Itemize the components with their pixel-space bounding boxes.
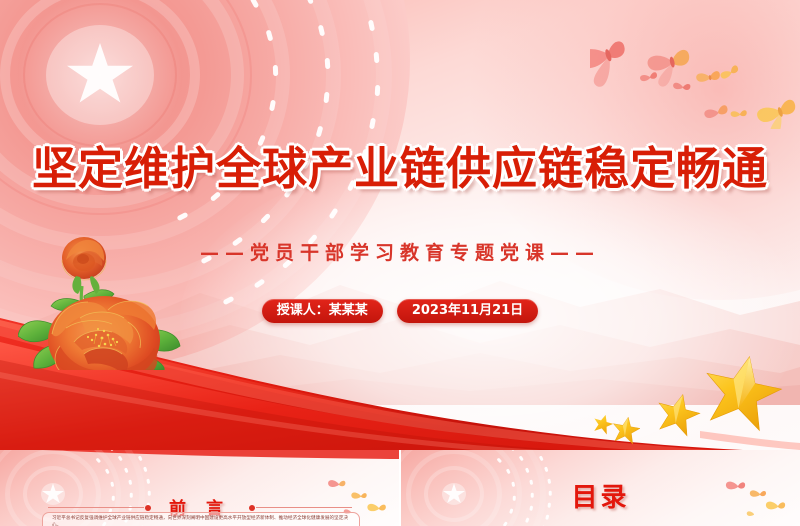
heading-rule-right <box>256 507 352 508</box>
body-text: 习近平总书记反复强调维护全球产业链供应链稳定畅通，向世界深刻阐明中国建设更高水平… <box>52 516 348 526</box>
thumbnail-contents[interactable]: 目录 <box>401 450 800 526</box>
slide-thumbnail-strip: 前 言 习近平总书记反复强调维护全球产业链供应链稳定畅通，向世界深刻阐明中国建设… <box>0 450 800 526</box>
heading-dot-right <box>249 505 255 511</box>
page-title: 坚定维护全球产业链供应链稳定畅通 <box>0 146 800 191</box>
title-slide[interactable]: 坚定维护全球产业链供应链稳定畅通 ——党员干部学习教育专题党课—— 授课人：某某… <box>0 0 800 450</box>
presenter-badge[interactable]: 授课人：某某某 <box>262 299 383 323</box>
butterfly-icon <box>590 14 800 129</box>
date-badge[interactable]: 2023年11月21日 <box>397 299 538 323</box>
page-subtitle: ——党员干部学习教育专题党课—— <box>0 238 800 265</box>
thumbnail-preface[interactable]: 前 言 习近平总书记反复强调维护全球产业链供应链稳定畅通，向世界深刻阐明中国建设… <box>0 450 399 526</box>
meta-badges: 授课人：某某某 2023年11月21日 <box>0 299 800 323</box>
presentation-preview: 坚定维护全球产业链供应链稳定畅通 ——党员干部学习教育专题党课—— 授课人：某某… <box>0 0 800 526</box>
gold-star-icon <box>590 352 800 450</box>
thumbnail-heading: 目录 <box>401 477 800 514</box>
